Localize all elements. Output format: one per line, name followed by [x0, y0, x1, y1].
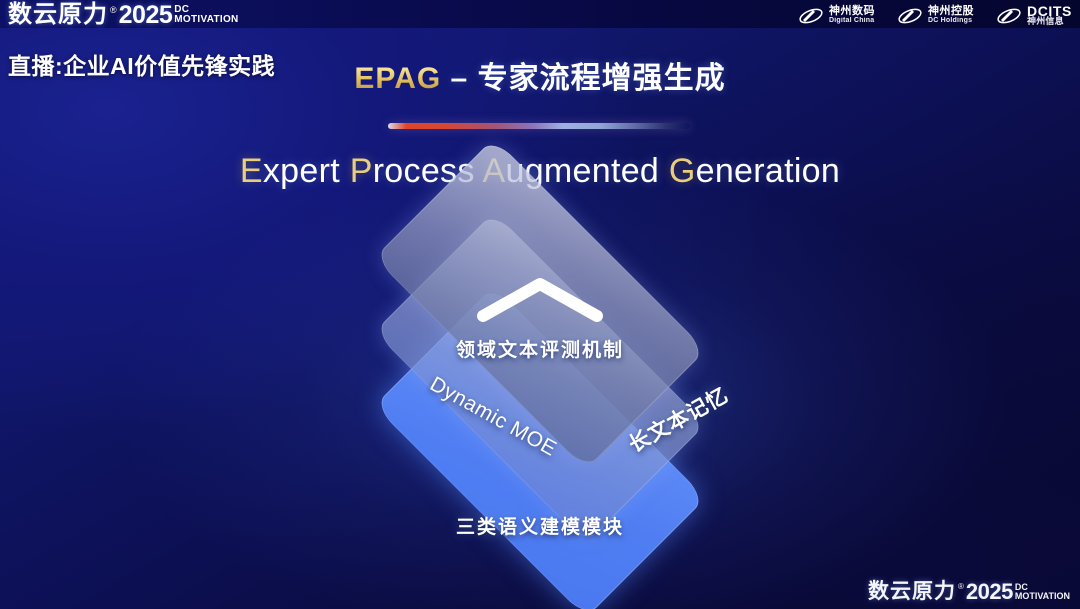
page-title: EPAG – 专家流程增强生成: [0, 53, 1080, 97]
swirl-icon: [897, 5, 923, 27]
watermark-dc-motivation: DC MOTIVATION: [1015, 580, 1070, 601]
english-rest-generation: eneration: [696, 152, 840, 190]
watermark-registered: ®: [958, 580, 964, 592]
corp-name-cn: DCITS: [1027, 6, 1072, 16]
corp-name-en: 神州信息: [1027, 16, 1072, 26]
english-initial-p: P: [350, 152, 373, 190]
watermark-cn: 数云原力: [868, 580, 956, 603]
event-logo-year: 2025: [119, 2, 173, 28]
corporate-logo-group: 神州数码 Digital China 神州控股 DC Holdings: [798, 5, 1072, 27]
layer-label-top: 领域文本评测机制: [440, 335, 640, 362]
watermark-logo: 数云原力 ® 2025 DC MOTIVATION: [868, 580, 1070, 603]
swirl-icon: [996, 5, 1022, 27]
watermark-motivation: MOTIVATION: [1015, 592, 1070, 601]
corp-name-cn: 神州控股: [928, 6, 974, 16]
chevron-up-icon: [475, 276, 605, 322]
english-initial-e: E: [240, 152, 263, 190]
event-logo-motivation: MOTIVATION: [174, 15, 238, 25]
english-rest-expert: xpert: [263, 152, 340, 190]
slide-canvas: 数云原力 ® 2025 DC MOTIVATION 直播:企业AI价值先锋实践 …: [0, 0, 1080, 609]
title-acronym: EPAG: [354, 62, 441, 95]
corp-logo-digital-china: 神州数码 Digital China: [798, 5, 875, 27]
layer-label-bottom: 三类语义建模模块: [430, 512, 650, 539]
watermark-year: 2025: [966, 580, 1013, 603]
corp-logo-dc-holdings: 神州控股 DC Holdings: [897, 5, 974, 27]
corp-name-en: DC Holdings: [928, 16, 974, 26]
corp-name-en: Digital China: [829, 16, 875, 26]
event-logo-registered: ®: [110, 2, 117, 16]
event-logo-cn: 数云原力: [8, 2, 108, 28]
english-initial-g: G: [669, 152, 696, 190]
corp-name-cn: 神州数码: [829, 6, 875, 16]
corp-logo-dcits: DCITS 神州信息: [996, 5, 1072, 27]
event-logo: 数云原力 ® 2025 DC MOTIVATION: [8, 2, 239, 28]
title-divider: [388, 123, 690, 129]
event-logo-dc-motivation: DC MOTIVATION: [174, 2, 238, 25]
title-chinese: 专家流程增强生成: [478, 62, 726, 95]
swirl-icon: [798, 5, 824, 27]
title-dash: –: [441, 62, 477, 95]
